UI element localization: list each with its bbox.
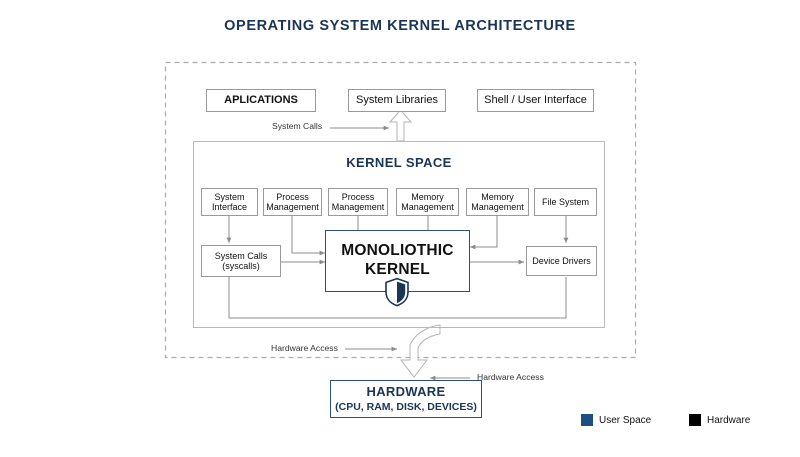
kernel-subsystem-file-system[interactable]: File System	[534, 188, 597, 216]
user-space-box-applications[interactable]: APLICATIONS	[206, 89, 316, 112]
system-calls-connector-label: System Calls	[272, 121, 322, 131]
hardware-access-right-label: Hardware Access	[477, 372, 544, 382]
diagram-canvas: OPERATING SYSTEM KERNEL ARCHITECTURE	[0, 0, 800, 457]
kernel-subsystem-memory-management-2[interactable]: Memory Management	[466, 188, 529, 216]
legend-swatch-user-space	[581, 414, 593, 426]
hardware-title: HARDWARE	[367, 384, 446, 400]
kernel-space-label: KERNEL SPACE	[193, 155, 605, 170]
process-management-1-label: Process Management	[264, 192, 321, 213]
kernel-subsystem-system-interface[interactable]: System Interface	[201, 188, 258, 216]
hardware-subtitle: (CPU, RAM, DISK, DEVICES)	[335, 401, 477, 414]
process-management-2-label: Process Management	[329, 192, 387, 213]
memory-management-1-label: Memory Management	[397, 192, 458, 213]
hardware-access-left-label: Hardware Access	[271, 343, 338, 353]
device-drivers-box[interactable]: Device Drivers	[526, 246, 597, 276]
kernel-subsystem-process-management-2[interactable]: Process Management	[328, 188, 388, 216]
legend-label-hardware: Hardware	[707, 415, 750, 426]
user-space-box-shell-user-interface[interactable]: Shell / User Interface	[477, 89, 594, 112]
hardware-box[interactable]: HARDWARE (CPU, RAM, DISK, DEVICES)	[330, 380, 482, 418]
memory-management-2-label: Memory Management	[467, 192, 528, 213]
syscalls-line2: (syscalls)	[222, 261, 260, 271]
system-libraries-up-arrow	[390, 110, 411, 141]
syscalls-line1: System Calls	[215, 251, 268, 261]
legend-swatch-hardware	[689, 414, 701, 426]
device-drivers-label: Device Drivers	[532, 256, 591, 266]
kernel-subsystem-process-management-1[interactable]: Process Management	[263, 188, 322, 216]
file-system-label: File System	[542, 197, 589, 207]
system-libraries-label: System Libraries	[356, 94, 438, 107]
user-space-box-system-libraries[interactable]: System Libraries	[348, 89, 446, 112]
syscalls-box[interactable]: System Calls (syscalls)	[201, 245, 281, 277]
kernel-subsystem-memory-management-1[interactable]: Memory Management	[396, 188, 459, 216]
legend-item-hardware: Hardware	[689, 414, 750, 426]
kernel-core-line1: MONOLIOTHIC	[341, 242, 453, 261]
system-interface-label: System Interface	[202, 192, 257, 213]
hardware-curved-arrow	[401, 325, 440, 377]
shell-user-interface-label: Shell / User Interface	[484, 94, 587, 107]
applications-label: APLICATIONS	[224, 94, 298, 107]
legend-item-user-space: User Space	[581, 414, 651, 426]
legend-label-user-space: User Space	[599, 415, 651, 426]
shield-icon	[384, 277, 410, 307]
